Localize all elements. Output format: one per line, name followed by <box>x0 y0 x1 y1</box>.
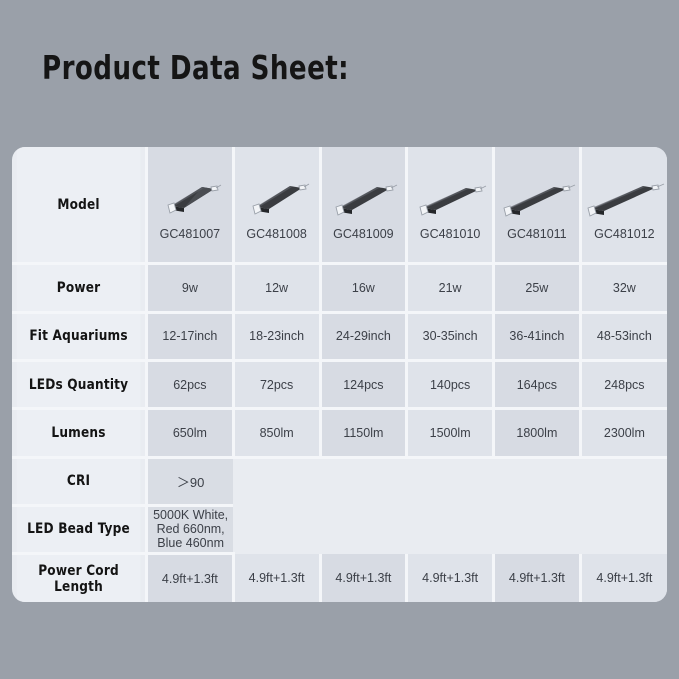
power-value-1: 9w <box>147 264 234 312</box>
leds-quantity-value-2: 72pcs <box>233 360 320 408</box>
page-title: Product Data Sheet: <box>42 48 349 87</box>
table-row-lumens: Lumens 650lm 850lm 1150lm 1500lm 1800lm … <box>12 409 667 457</box>
model-code: GC481009 <box>333 227 393 241</box>
leds-quantity-value-5: 164pcs <box>494 360 581 408</box>
table-row-led-bead-type: LED Bead Type 5000K White, Red 660nm, Bl… <box>12 505 667 553</box>
table-row-cri: CRI ＞90 <box>12 457 667 505</box>
fit-aquariums-value-6: 48-53inch <box>580 312 667 360</box>
led-bead-type-value: 5000K White, Red 660nm, Blue 460nm <box>147 505 234 553</box>
model-cell-4: GC481010 <box>407 147 494 264</box>
model-cell-2: GC481008 <box>233 147 320 264</box>
leds-quantity-value-6: 248pcs <box>580 360 667 408</box>
row-label-leds-quantity: LEDs Quantity <box>17 360 142 408</box>
power-cord-length-value-4: 4.9ft+1.3ft <box>407 554 494 602</box>
row-label-led-bead-type: LED Bead Type <box>17 505 142 553</box>
aquarium-light-bar-icon <box>497 173 577 225</box>
power-value-3: 16w <box>320 264 407 312</box>
lumens-value-4: 1500lm <box>407 409 494 457</box>
power-cord-length-value-5: 4.9ft+1.3ft <box>494 554 581 602</box>
model-code: GC481011 <box>507 227 567 241</box>
lumens-value-5: 1800lm <box>494 409 581 457</box>
power-cord-length-value-2: 4.9ft+1.3ft <box>233 554 320 602</box>
aquarium-light-bar-icon <box>327 173 399 225</box>
model-cell-6: GC481012 <box>580 147 667 264</box>
aquarium-light-bar-icon <box>412 173 488 225</box>
table-row-power-cord-length: Power Cord Length 4.9ft+1.3ft 4.9ft+1.3f… <box>12 554 667 602</box>
lumens-value-6: 2300lm <box>580 409 667 457</box>
leds-quantity-value-3: 124pcs <box>320 360 407 408</box>
table-row-leds-quantity: LEDs Quantity 62pcs 72pcs 124pcs 140pcs … <box>12 360 667 408</box>
power-value-5: 25w <box>494 264 581 312</box>
fit-aquariums-value-4: 30-35inch <box>407 312 494 360</box>
row-label-cri: CRI <box>17 457 142 505</box>
table-row-power: Power 9w 12w 16w 21w 25w 32w <box>12 264 667 312</box>
fit-aquariums-value-5: 36-41inch <box>494 312 581 360</box>
fit-aquariums-value-1: 12-17inch <box>147 312 234 360</box>
fit-aquariums-value-3: 24-29inch <box>320 312 407 360</box>
row-label-model: Model <box>17 147 142 264</box>
leds-quantity-value-4: 140pcs <box>407 360 494 408</box>
power-cord-length-value-6: 4.9ft+1.3ft <box>580 554 667 602</box>
spec-table: Model <box>12 147 667 602</box>
power-cord-length-value-1: 4.9ft+1.3ft <box>147 554 234 602</box>
power-cord-length-value-3: 4.9ft+1.3ft <box>320 554 407 602</box>
model-code: GC481010 <box>420 227 480 241</box>
aquarium-light-bar-icon <box>582 173 666 225</box>
model-cell-1: GC481007 <box>147 147 234 264</box>
table-row-fit-aquariums: Fit Aquariums 12-17inch 18-23inch 24-29i… <box>12 312 667 360</box>
row-label-lumens: Lumens <box>17 409 142 457</box>
lumens-value-2: 850lm <box>233 409 320 457</box>
aquarium-light-bar-icon <box>243 173 311 225</box>
aquarium-light-bar-icon <box>158 173 222 225</box>
row-label-power-cord-length: Power Cord Length <box>17 554 142 602</box>
model-code: GC481012 <box>594 227 654 241</box>
power-value-2: 12w <box>233 264 320 312</box>
product-data-sheet-table: Model <box>12 147 667 602</box>
row-label-fit-aquariums: Fit Aquariums <box>17 312 142 360</box>
power-value-6: 32w <box>580 264 667 312</box>
fit-aquariums-value-2: 18-23inch <box>233 312 320 360</box>
table-row-model: Model <box>12 147 667 264</box>
model-code: GC481007 <box>160 227 220 241</box>
row-label-power: Power <box>17 264 142 312</box>
power-value-4: 21w <box>407 264 494 312</box>
model-cell-5: GC481011 <box>494 147 581 264</box>
lumens-value-3: 1150lm <box>320 409 407 457</box>
cri-value: ＞90 <box>147 457 234 505</box>
lumens-value-1: 650lm <box>147 409 234 457</box>
model-code: GC481008 <box>246 227 306 241</box>
leds-quantity-value-1: 62pcs <box>147 360 234 408</box>
model-cell-3: GC481009 <box>320 147 407 264</box>
